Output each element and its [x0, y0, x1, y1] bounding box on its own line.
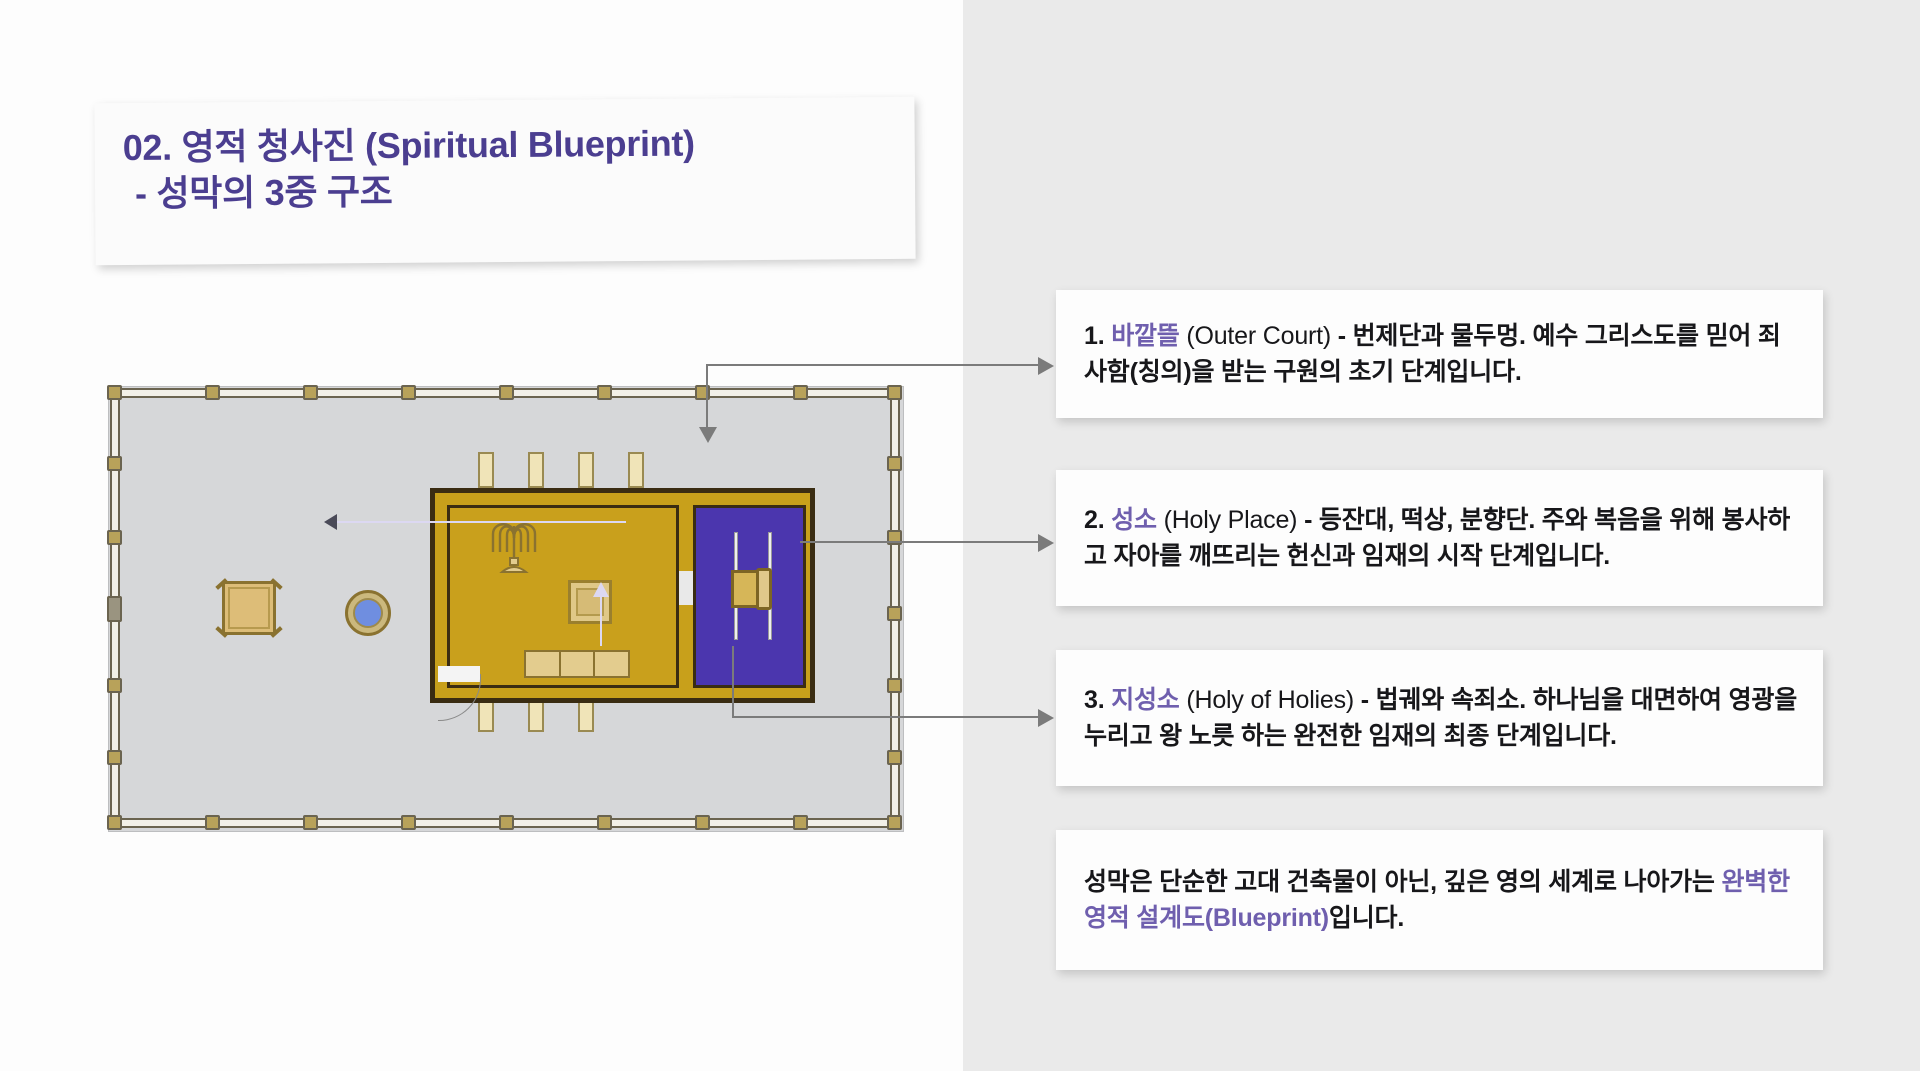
page-subtitle: - 성막의 3중 구조 — [123, 165, 893, 217]
fence-post — [887, 456, 902, 471]
connector-3-horizontal — [732, 716, 1040, 718]
fence-post — [499, 815, 514, 830]
laver-icon — [345, 590, 391, 636]
outer-court-gate-post — [107, 596, 122, 622]
veil-opening-upper — [679, 571, 693, 605]
card-summary-text: 성막은 단순한 고대 건축물이 아닌, 깊은 영의 세계로 나아가는 완벽한 영… — [1084, 864, 1801, 937]
title-text-block: 02. 영적 청사진 (Spiritual Blueprint) - 성막의 3… — [123, 119, 894, 217]
fence-post — [107, 530, 122, 545]
fence-post — [793, 385, 808, 400]
card-summary[interactable]: 성막은 단순한 고대 건축물이 아닌, 깊은 영의 세계로 나아가는 완벽한 영… — [1056, 830, 1823, 970]
fence-post — [107, 750, 122, 765]
page-title: 02. 영적 청사진 (Spiritual Blueprint) — [123, 119, 893, 171]
fence-post — [107, 456, 122, 471]
bronze-altar-inner — [228, 587, 270, 629]
fence-post — [303, 815, 318, 830]
fence-post — [107, 815, 122, 830]
card-outer-court-text: 1. 바깥뜰 (Outer Court) - 번제단과 물두멍. 예수 그리스도… — [1084, 318, 1801, 391]
holy-place-pointer-line — [336, 521, 626, 523]
connector-2-horizontal — [800, 541, 1040, 543]
summary-part1: 성막은 단순한 고대 건축물이 아닌, 깊은 영의 세계로 나아가는 — [1084, 868, 1721, 896]
holy-place-region — [447, 505, 679, 688]
connector-1-arrowhead-down — [699, 427, 717, 443]
connector-1-horizontal — [706, 364, 1040, 366]
fence-post — [401, 385, 416, 400]
fence-post — [887, 385, 902, 400]
card-holy-of-holies-text: 3. 지성소 (Holy of Holies) - 법궤와 속죄소. 하나님을 … — [1084, 682, 1801, 755]
fence-post — [205, 815, 220, 830]
fence-post — [401, 815, 416, 830]
showbread-section — [561, 652, 596, 676]
fence-post — [887, 815, 902, 830]
laver-water — [353, 598, 383, 628]
fence-post — [695, 815, 710, 830]
summary-part2: 입니다. — [1329, 904, 1404, 932]
card-3-number: 3. — [1084, 686, 1104, 714]
fence-post — [107, 385, 122, 400]
tabernacle-board — [628, 452, 644, 488]
table-of-showbread-icon — [524, 650, 630, 678]
tabernacle-board — [478, 452, 494, 488]
card-2-english: (Holy Place) — [1164, 506, 1298, 534]
holy-place-pointer-arrow — [324, 514, 337, 530]
connector-1-vertical — [706, 364, 708, 429]
ark-of-the-covenant-icon — [726, 558, 782, 614]
fence-post — [887, 678, 902, 693]
fence-post — [793, 815, 808, 830]
holy-of-holies-region — [693, 505, 806, 688]
connector-3-vertical — [732, 646, 734, 718]
holy-of-holies-pointer-line — [600, 594, 602, 646]
card-2-number: 2. — [1084, 506, 1104, 534]
card-3-term: 지성소 — [1111, 686, 1179, 714]
connector-3-arrowhead-right — [1038, 709, 1054, 727]
tabernacle-board — [528, 452, 544, 488]
card-2-term: 성소 — [1111, 506, 1157, 534]
card-3-english: (Holy of Holies) — [1186, 686, 1354, 714]
fence-post — [597, 385, 612, 400]
card-outer-court[interactable]: 1. 바깥뜰 (Outer Court) - 번제단과 물두멍. 예수 그리스도… — [1056, 290, 1823, 418]
connector-1-arrowhead-right — [1038, 357, 1054, 375]
card-1-number: 1. — [1084, 322, 1104, 350]
menorah-icon — [478, 518, 550, 576]
card-holy-place-text: 2. 성소 (Holy Place) - 등잔대, 떡상, 분향단. 주와 복음… — [1084, 502, 1801, 575]
fence-post — [303, 385, 318, 400]
fence-post — [205, 385, 220, 400]
tabernacle-board — [578, 452, 594, 488]
fence-post — [597, 815, 612, 830]
fence-post — [887, 606, 902, 621]
mercy-seat — [756, 568, 772, 610]
connector-2-arrowhead-right — [1038, 534, 1054, 552]
card-holy-place[interactable]: 2. 성소 (Holy Place) - 등잔대, 떡상, 분향단. 주와 복음… — [1056, 470, 1823, 606]
title-card: 02. 영적 청사진 (Spiritual Blueprint) - 성막의 3… — [94, 97, 915, 265]
card-1-english: (Outer Court) — [1186, 322, 1331, 350]
showbread-section — [526, 652, 561, 676]
fence-post — [887, 750, 902, 765]
showbread-section — [595, 652, 628, 676]
tabernacle-diagram — [100, 378, 910, 838]
card-holy-of-holies[interactable]: 3. 지성소 (Holy of Holies) - 법궤와 속죄소. 하나님을 … — [1056, 650, 1823, 786]
fence-post — [107, 678, 122, 693]
bronze-altar-icon — [215, 574, 283, 642]
card-1-term: 바깥뜰 — [1111, 322, 1179, 350]
holy-of-holies-pointer-arrow — [593, 582, 609, 597]
fence-post — [499, 385, 514, 400]
slide-root: 02. 영적 청사진 (Spiritual Blueprint) - 성막의 3… — [0, 0, 1920, 1071]
